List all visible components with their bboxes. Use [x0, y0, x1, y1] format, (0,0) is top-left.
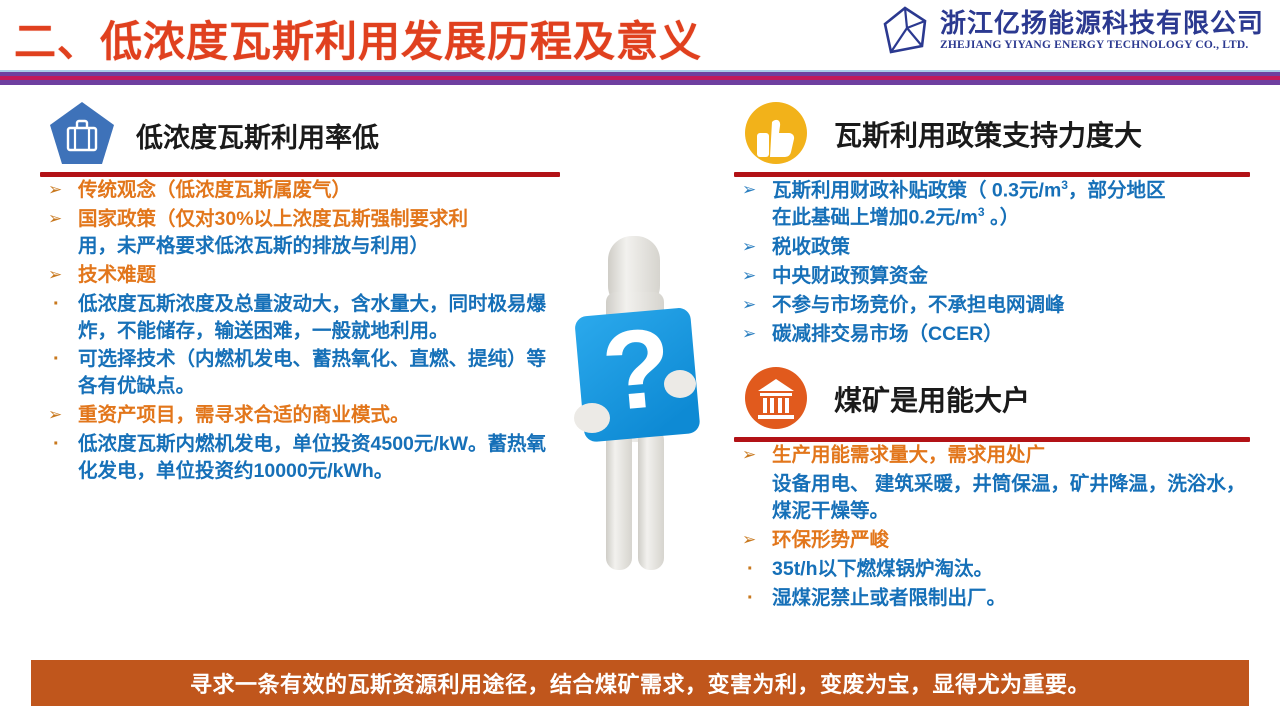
list-item-text: 低浓度瓦斯浓度及总量波动大，含水量大，同时极易爆炸，不能储存，输送困难，一般就地…: [78, 293, 546, 342]
arrow-bullet-icon: ➢: [742, 234, 756, 260]
list-item: ➢ 碳减排交易市场（CCER）: [734, 321, 1250, 348]
company-logo: 浙江亿扬能源科技有限公司 ZHEJIANG YIYANG ENERGY TECH…: [882, 6, 1264, 56]
list-item: · 湿煤泥禁止或者限制出厂。: [734, 585, 1250, 612]
list-item-text: 生产用能需求量大，需求用处广: [772, 444, 1045, 466]
list-item: ➢ 不参与市场竞价，不承担电网调峰: [734, 292, 1250, 319]
person-holding-question-sign: ?: [556, 232, 716, 577]
list-item: ➢ 技术难题: [40, 262, 560, 289]
list-item: ➢ 生产用能需求量大，需求用处广: [734, 442, 1250, 469]
right-column: 瓦斯利用政策支持力度大 ➢ 瓦斯利用财政补贴政策（ 0.3元/m3，部分地区 在…: [734, 98, 1250, 614]
list-item: ➢ 国家政策（仅对30%以上浓度瓦斯强制要求利 用，未严格要求低浓瓦斯的排放与利…: [40, 206, 560, 260]
thumbs-up-circle-icon: [742, 100, 810, 166]
arrow-bullet-icon: ➢: [742, 527, 756, 553]
right-bullet-list-b: ➢ 生产用能需求量大，需求用处广 设备用电、 建筑采暖，井筒保温，矿井降温，洗浴…: [734, 442, 1250, 611]
superscript-3: 3: [1061, 178, 1068, 192]
arrow-bullet-icon: ➢: [742, 177, 756, 203]
arrow-bullet-icon: ➢: [742, 442, 756, 468]
right-section-a-title: 瓦斯利用政策支持力度大: [834, 114, 1142, 154]
divider-line-purple-bottom: [0, 80, 1280, 85]
hexagon-logo-icon: [882, 6, 928, 56]
arrow-bullet-icon: ➢: [48, 262, 62, 288]
arrow-bullet-icon: ➢: [48, 402, 62, 428]
section-spacer: [734, 349, 1250, 363]
slide-header: 二、低浓度瓦斯利用发展历程及意义 浙江亿扬能源科技有限公司 ZHEJIANG Y…: [0, 0, 1280, 88]
arrow-bullet-icon: ➢: [48, 177, 62, 203]
list-item: ➢ 税收政策: [734, 234, 1250, 261]
list-item-text: 传统观念（低浓度瓦斯属废气）: [78, 179, 351, 201]
page-title: 二、低浓度瓦斯利用发展历程及意义: [14, 8, 702, 69]
list-item-text: 不参与市场竞价，不承担电网调峰: [772, 294, 1065, 316]
list-item: · 低浓度瓦斯浓度及总量波动大，含水量大，同时极易爆炸，不能储存，输送困难，一般…: [40, 291, 560, 345]
briefcase-pentagon-icon: [48, 100, 116, 166]
list-item: ➢ 中央财政预算资金: [734, 263, 1250, 290]
bank-building-circle-icon: [742, 365, 810, 431]
list-item-text: 环保形势严峻: [772, 529, 889, 551]
list-item: ➢ 环保形势严峻: [734, 527, 1250, 554]
list-item-text: 税收政策: [772, 236, 850, 258]
arrow-bullet-icon: ➢: [742, 263, 756, 289]
arrow-bullet-icon: ➢: [48, 206, 62, 232]
dot-bullet-icon: ·: [53, 429, 60, 459]
list-item: · 35t/h以下燃煤锅炉淘汰。: [734, 556, 1250, 583]
list-item: · 低浓度瓦斯内燃机发电，单位投资4500元/kW。蓄热氧化发电，单位投资约10…: [40, 431, 560, 485]
right-section-b-title: 煤矿是用能大户: [834, 379, 1030, 419]
list-item: ➢ 瓦斯利用财政补贴政策（ 0.3元/m3，部分地区 在此基础上增加0.2元/m…: [734, 177, 1250, 232]
list-item: · 可选择技术（内燃机发电、蓄热氧化、直燃、提纯）等各有优缺点。: [40, 346, 560, 400]
dot-bullet-icon: ·: [53, 289, 60, 319]
footer-banner-text: 寻求一条有效的瓦斯资源利用途径，结合煤矿需求，变害为利，变废为宝，显得尤为重要。: [190, 667, 1090, 699]
right-section-b-header: 煤矿是用能大户: [734, 363, 1250, 435]
dot-bullet-icon: ·: [747, 554, 754, 584]
list-item-text: 重资产项目，需寻求合适的商业模式。: [78, 404, 410, 426]
dot-bullet-icon: ·: [747, 583, 754, 613]
list-item-text: 设备用电、 建筑采暖，井筒保温，矿井降温，洗浴水，煤泥干燥等。: [772, 473, 1245, 522]
list-item-text: 国家政策（仅对30%以上浓度瓦斯强制要求利: [78, 208, 468, 230]
left-column: 低浓度瓦斯利用率低 ➢ 传统观念（低浓度瓦斯属废气） ➢ 国家政策（仅对30%以…: [40, 98, 560, 487]
company-name-cn: 浙江亿扬能源科技有限公司: [940, 10, 1264, 37]
list-item-text: 低浓度瓦斯内燃机发电，单位投资4500元/kW。蓄热氧化发电，单位投资约1000…: [78, 433, 546, 482]
left-section-header: 低浓度瓦斯利用率低: [40, 98, 560, 170]
footer-banner: 寻求一条有效的瓦斯资源利用途径，结合煤矿需求，变害为利，变废为宝，显得尤为重要。: [31, 660, 1249, 706]
list-item-text: 中央财政预算资金: [772, 265, 928, 287]
list-item-text: 可选择技术（内燃机发电、蓄热氧化、直燃、提纯）等各有优缺点。: [78, 348, 546, 397]
company-name-en: ZHEJIANG YIYANG ENERGY TECHNOLOGY CO., L…: [940, 40, 1264, 52]
list-item: ➢ 传统观念（低浓度瓦斯属废气）: [40, 177, 560, 204]
header-divider: [0, 70, 1280, 85]
dot-bullet-icon: ·: [53, 344, 60, 374]
right-bullet-list-a: ➢ 瓦斯利用财政补贴政策（ 0.3元/m3，部分地区 在此基础上增加0.2元/m…: [734, 177, 1250, 347]
right-section-a-header: 瓦斯利用政策支持力度大: [734, 98, 1250, 170]
superscript-3: 3: [978, 205, 985, 219]
left-bullet-list: ➢ 传统观念（低浓度瓦斯属废气） ➢ 国家政策（仅对30%以上浓度瓦斯强制要求利…: [40, 177, 560, 485]
list-item: ➢ 重资产项目，需寻求合适的商业模式。: [40, 402, 560, 429]
list-item-text-mid: ，部分地区: [1068, 180, 1166, 202]
list-item-text: 瓦斯利用财政补贴政策（ 0.3元/m: [772, 180, 1061, 202]
list-item-text: 35t/h以下燃煤锅炉淘汰。: [772, 558, 993, 580]
slide-root: 二、低浓度瓦斯利用发展历程及意义 浙江亿扬能源科技有限公司 ZHEJIANG Y…: [0, 0, 1280, 720]
list-item-text-line2-post: 。）: [985, 207, 1020, 229]
arrow-bullet-icon: ➢: [742, 292, 756, 318]
left-section-title: 低浓度瓦斯利用率低: [136, 116, 379, 155]
list-item-text: 湿煤泥禁止或者限制出厂。: [772, 587, 1006, 609]
arrow-bullet-icon: ➢: [742, 321, 756, 347]
list-item-text: 技术难题: [78, 264, 156, 286]
list-item-text-line2: 用，未严格要求低浓瓦斯的排放与利用）: [78, 235, 429, 257]
list-item-text: 碳减排交易市场（CCER）: [772, 323, 1003, 345]
list-item: 设备用电、 建筑采暖，井筒保温，矿井降温，洗浴水，煤泥干燥等。: [734, 471, 1250, 525]
list-item-text-line2: 在此基础上增加0.2元/m: [772, 207, 978, 229]
